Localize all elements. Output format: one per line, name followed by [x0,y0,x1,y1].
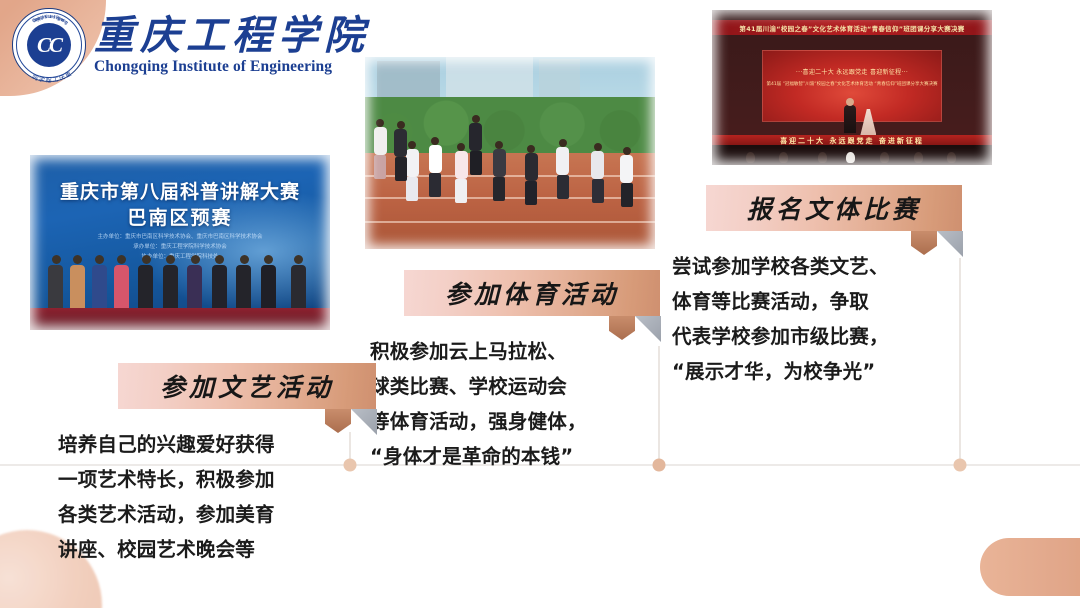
photo-art-subline-2: 承办单位：重庆工程学院科学技术协会 [30,243,330,252]
photo-art-stage-floor [30,308,330,330]
logo-monogram: CC [27,23,71,67]
slide-canvas: CC Chongqing Institute of Engineering重庆工… [0,0,1080,608]
card-arts-ribbon: 参加文艺活动 [118,363,376,409]
card-sports-activities[interactable]: 参加体育活动 积极参加云上马拉松、 球类比赛、学校运动会 等体育活动，强身健体，… [370,270,660,474]
corner-decoration-bottom-right [980,538,1080,596]
photo-art-award-recipients [48,254,321,310]
logo-name-chinese: 重庆工程学院 [94,16,370,56]
photo-track-race-start [365,57,655,249]
photo-art-caption-line1: 重庆市第八届科普讲解大赛 [30,177,330,204]
photo-comp-audience [712,145,992,165]
university-logo: CC Chongqing Institute of Engineering重庆工… [12,8,370,82]
photo-art-subline-1: 主办单位：重庆市巴南区科学技术协会、重庆市巴南区科学技术协会 [30,233,330,242]
card-sports-title: 参加体育活动 [445,275,619,311]
photo-comp-screen-line2: 第41届 “冠福敏智”川渝“校园之春”文化艺术体育活动 “青春信仰”班团课分享大… [763,81,940,88]
card-competitions-body: 尝试参加学校各类文艺、 体育等比赛活动，争取 代表学校参加市级比赛， “展示才华… [672,231,962,389]
card-competitions-title: 报名文体比赛 [747,190,921,226]
logo-ring-text: Chongqing Institute of Engineering重庆工程学院 [13,9,85,81]
logo-name-english: Chongqing Institute of Engineering [94,59,370,75]
card-competitions-ribbon: 报名文体比赛 [706,185,962,231]
card-arts-body: 培养自己的兴趣爱好获得 一项艺术特长，积极参加 各类艺术活动，参加美育 讲座、校… [58,409,358,567]
logo-seal-icon: CC Chongqing Institute of Engineering重庆工… [12,8,86,82]
photo-science-lecture-competition: 重庆市第八届科普讲解大赛 巴南区预赛 主办单位：重庆市巴南区科学技术协会、重庆市… [30,155,330,330]
card-sports-body: 积极参加云上马拉松、 球类比赛、学校运动会 等体育活动，强身健体， “身体才是革… [370,316,660,474]
photo-arts-festival-stage: 第41届川渝“校园之春”文化艺术体育活动“青春信仰”班团课分享大赛决赛 ···喜… [712,10,992,165]
photo-comp-performer-left [844,105,856,133]
card-sports-ribbon: 参加体育活动 [404,270,660,316]
card-arts-title: 参加文艺活动 [160,368,334,404]
photo-comp-banner-text: 第41届川渝“校园之春”文化艺术体育活动“青春信仰”班团课分享大赛决赛 [712,20,992,35]
photo-art-caption-line2: 巴南区预赛 [30,203,330,230]
photo-comp-screen-line1: ···喜迎二十大 永远跟党走 喜迎新征程··· [763,67,940,76]
card-competitions[interactable]: 报名文体比赛 尝试参加学校各类文艺、 体育等比赛活动，争取 代表学校参加市级比赛… [672,185,962,389]
card-arts-activities[interactable]: 参加文艺活动 培养自己的兴趣爱好获得 一项艺术特长，积极参加 各类艺术活动，参加… [58,363,358,567]
